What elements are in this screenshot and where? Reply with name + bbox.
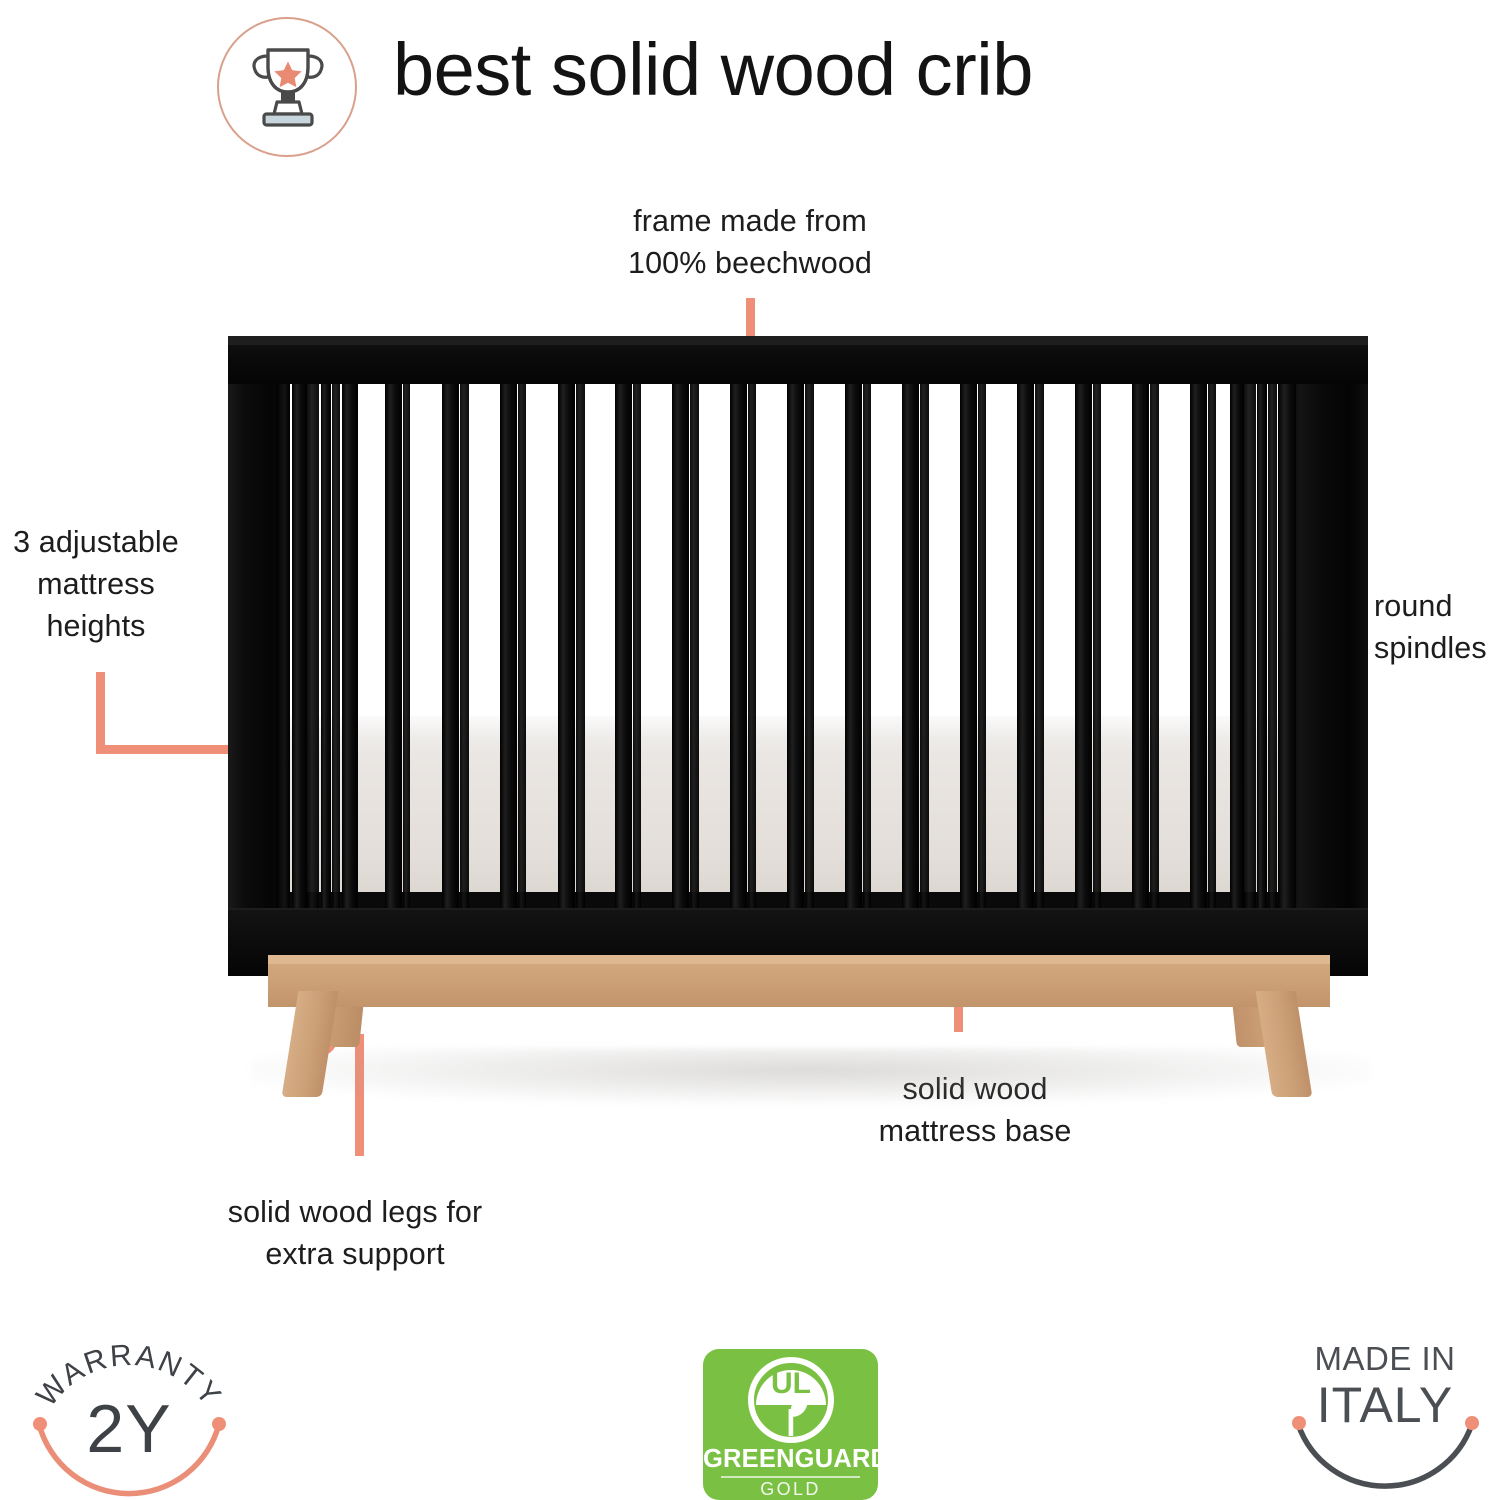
- made-in-italy-arc-icon: [1278, 1338, 1492, 1500]
- ul-mark-text: UL: [771, 1367, 811, 1400]
- callout-line: 100% beechwood: [555, 242, 945, 284]
- callout-line: round: [1374, 585, 1492, 627]
- warranty-arc-dot-right: [212, 1417, 226, 1431]
- greenguard-divider: [721, 1476, 860, 1478]
- callout-line: solid wood legs for: [160, 1191, 550, 1233]
- crib-right-corner-post: [1298, 344, 1368, 954]
- crib-legs: [228, 955, 1368, 1095]
- crib-top-rail-highlight: [228, 336, 1368, 345]
- callout-wood-legs-label: solid wood legs for extra support: [160, 1191, 550, 1275]
- italy-arc-dot-right: [1465, 1416, 1479, 1430]
- page-title: best solid wood crib: [393, 18, 1293, 118]
- warranty-badge: WARRANTY 2Y: [24, 1342, 234, 1492]
- callout-mattress-heights-label: 3 adjustable mattress heights: [0, 521, 194, 647]
- callout-line: heights: [0, 605, 194, 647]
- callout-line: extra support: [160, 1233, 550, 1275]
- callout-frame-material-label: frame made from 100% beechwood: [555, 200, 945, 284]
- greenguard-name: GREENGUARD: [703, 1445, 878, 1474]
- header: best solid wood crib: [0, 0, 1492, 160]
- italy-arc-dot-left: [1292, 1416, 1306, 1430]
- ul-greenguard-logo-icon: UL: [744, 1355, 838, 1445]
- greenguard-tier: GOLD: [703, 1479, 878, 1500]
- made-in-italy-badge: MADE IN ITALY: [1278, 1338, 1492, 1500]
- warranty-arc-dot-left: [33, 1417, 47, 1431]
- callout-line: mattress base: [790, 1110, 1160, 1152]
- callout-line: frame made from: [555, 200, 945, 242]
- callout-line: spindles: [1374, 627, 1492, 669]
- callout-line: 3 adjustable: [0, 521, 194, 563]
- crib-wood-base-rail-highlight: [268, 955, 1330, 964]
- crib-spindles: [290, 378, 1298, 912]
- greenguard-gold-badge: UL GREENGUARD GOLD: [703, 1349, 878, 1500]
- trophy-icon: [247, 43, 329, 131]
- callout-line: mattress: [0, 563, 194, 605]
- infographic-canvas: best solid wood crib frame made from 100…: [0, 0, 1492, 1500]
- leader-line-mattress-heights-vertical: [96, 672, 105, 754]
- warranty-years-value: 2Y: [24, 1390, 234, 1468]
- crib-illustration: [228, 336, 1368, 976]
- callout-round-spindles-label: round spindles: [1374, 585, 1492, 669]
- crib-left-post-edge: [276, 344, 290, 954]
